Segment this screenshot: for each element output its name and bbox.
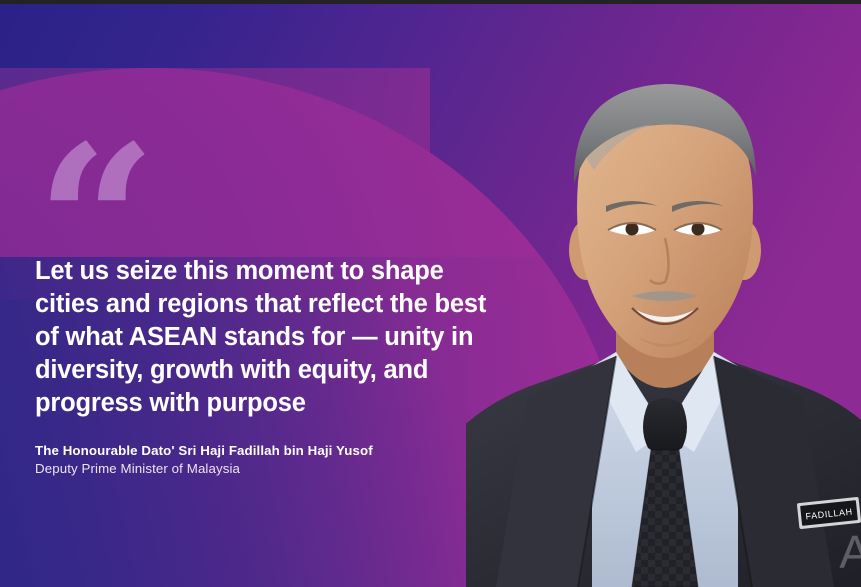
attribution: The Honourable Dato' Sri Haji Fadillah b… (35, 443, 505, 476)
tie-knot (643, 398, 687, 454)
watermark-text: A (839, 525, 861, 579)
portrait-photo: FADILLAH (466, 0, 861, 587)
quote-slide: FADILLAH (0, 0, 861, 587)
quote-text: Let us seize this moment to shape cities… (35, 255, 505, 419)
top-edge-strip (0, 0, 861, 4)
attribution-role: Deputy Prime Minister of Malaysia (35, 461, 505, 476)
attribution-name: The Honourable Dato' Sri Haji Fadillah b… (35, 443, 505, 458)
